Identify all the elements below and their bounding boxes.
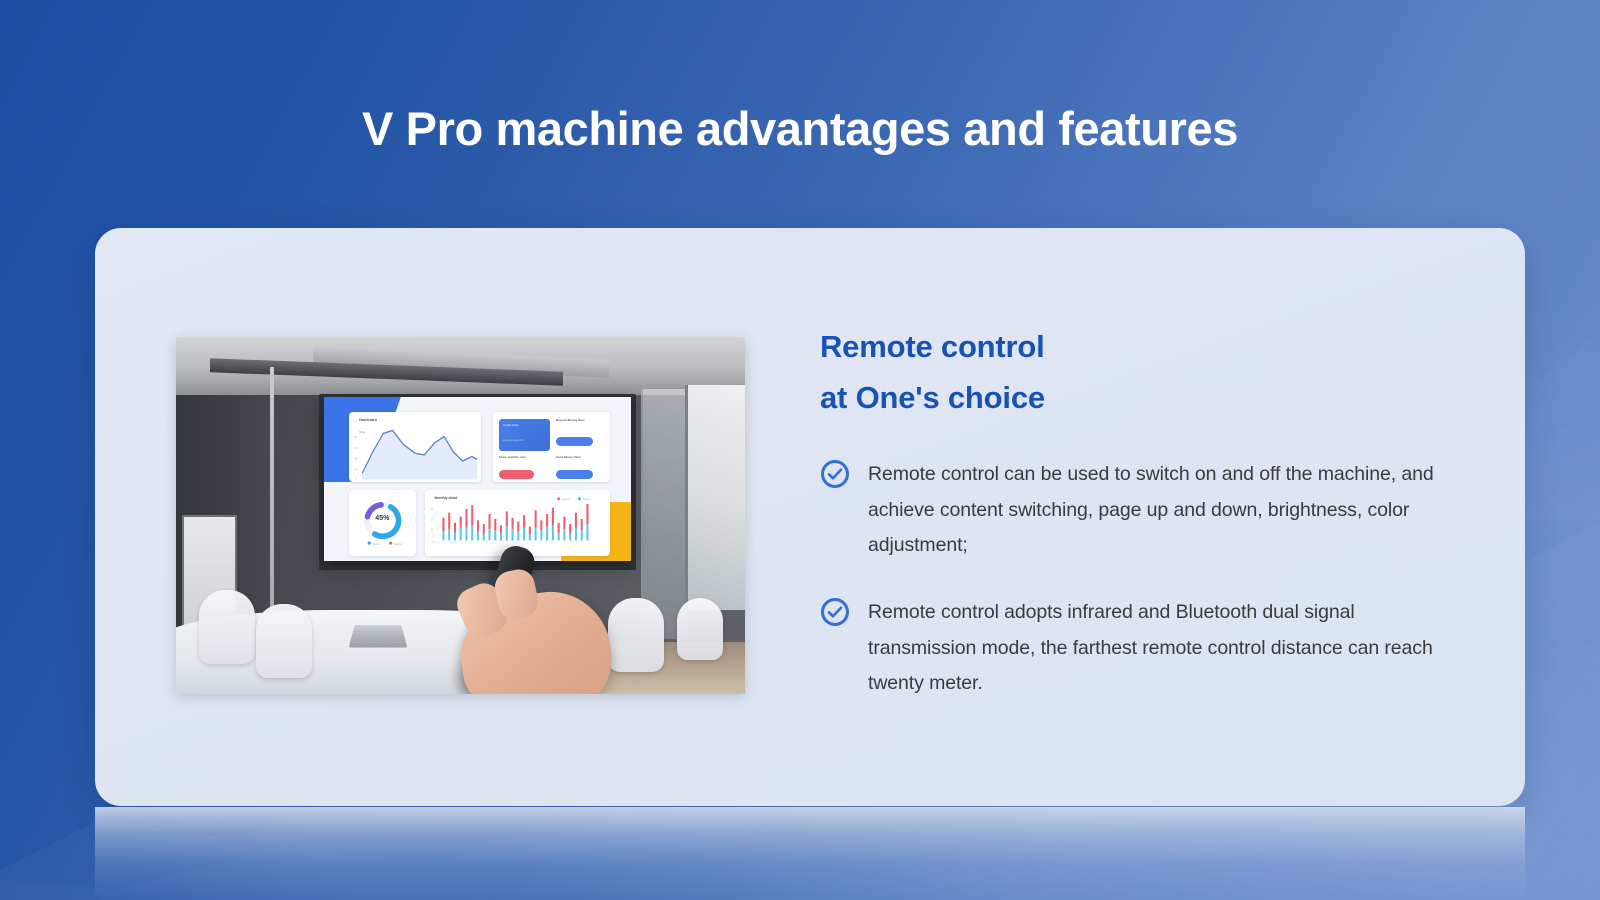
dashboard-panel-donut: Item 1 Item 2 45% bbox=[349, 490, 417, 556]
donut-chart-svg: Item 1 Item 2 bbox=[349, 490, 417, 556]
svg-text:Item 2: Item 2 bbox=[583, 497, 591, 501]
card-reflection bbox=[95, 807, 1525, 900]
page-title: V Pro machine advantages and features bbox=[0, 101, 1600, 156]
dashboard-panel-area-chart: Dashboard Total 806040200 bbox=[349, 412, 481, 483]
svg-text:10: 10 bbox=[431, 529, 434, 532]
feature-headline: Remote control at One's choice bbox=[820, 322, 1460, 423]
svg-text:80: 80 bbox=[354, 435, 357, 439]
chair bbox=[608, 598, 664, 672]
window-right bbox=[685, 385, 745, 610]
chair bbox=[677, 598, 723, 660]
svg-text:0: 0 bbox=[355, 476, 357, 480]
statistic-label: Show statistic now bbox=[499, 455, 546, 460]
list-item: Remote control adopts infrared and Bluet… bbox=[820, 595, 1460, 701]
svg-text:Item 1: Item 1 bbox=[562, 497, 570, 501]
donut-percentage: 45% bbox=[349, 515, 417, 522]
laptop bbox=[349, 625, 408, 647]
product-photo: Dashboard Total 806040200 bbox=[176, 337, 745, 694]
chair bbox=[199, 590, 255, 664]
credit-card-number: xxx xxx xxx xxx bbox=[503, 438, 524, 442]
list-item-text: Remote control adopts infrared and Bluet… bbox=[868, 595, 1460, 701]
svg-text:Item 2: Item 2 bbox=[394, 542, 402, 546]
list-item: Remote control can be used to switch on … bbox=[820, 457, 1460, 563]
credit-card-title: Credit Card bbox=[503, 423, 518, 427]
send-money-label: Send Money Now bbox=[556, 455, 605, 460]
headline-line-1: Remote control bbox=[820, 322, 1460, 373]
credit-card-tile: Credit Card xxx xxx xxx xxx bbox=[499, 419, 550, 451]
svg-text:60: 60 bbox=[354, 445, 357, 449]
svg-text:30: 30 bbox=[431, 509, 434, 512]
statistic-button[interactable] bbox=[499, 470, 534, 479]
svg-text:Item 1: Item 1 bbox=[372, 542, 380, 546]
list-item-text: Remote control can be used to switch on … bbox=[868, 457, 1460, 563]
svg-text:0: 0 bbox=[432, 541, 434, 544]
feature-content: Remote control at One's choice Remote co… bbox=[820, 322, 1460, 702]
photo-scene: Dashboard Total 806040200 bbox=[176, 337, 745, 694]
check-circle-icon bbox=[820, 597, 850, 627]
check-circle-icon bbox=[820, 459, 850, 489]
wall-display-screen: Dashboard Total 806040200 bbox=[324, 397, 631, 561]
deposit-label: Deposit Money Now bbox=[556, 418, 605, 423]
feature-bullet-list: Remote control can be used to switch on … bbox=[820, 457, 1460, 702]
slide-root: V Pro machine advantages and features Da… bbox=[0, 0, 1600, 900]
area-chart-svg: 806040200 bbox=[349, 412, 481, 483]
send-money-button[interactable] bbox=[556, 470, 593, 479]
svg-text:20: 20 bbox=[354, 467, 357, 471]
headline-line-2: at One's choice bbox=[820, 373, 1460, 424]
chair bbox=[256, 604, 312, 678]
dashboard-panel-credit: Credit Card xxx xxx xxx xxx Deposit Mone… bbox=[493, 412, 610, 483]
svg-text:40: 40 bbox=[354, 456, 357, 460]
svg-text:20: 20 bbox=[431, 519, 434, 522]
deposit-button[interactable] bbox=[556, 437, 593, 446]
